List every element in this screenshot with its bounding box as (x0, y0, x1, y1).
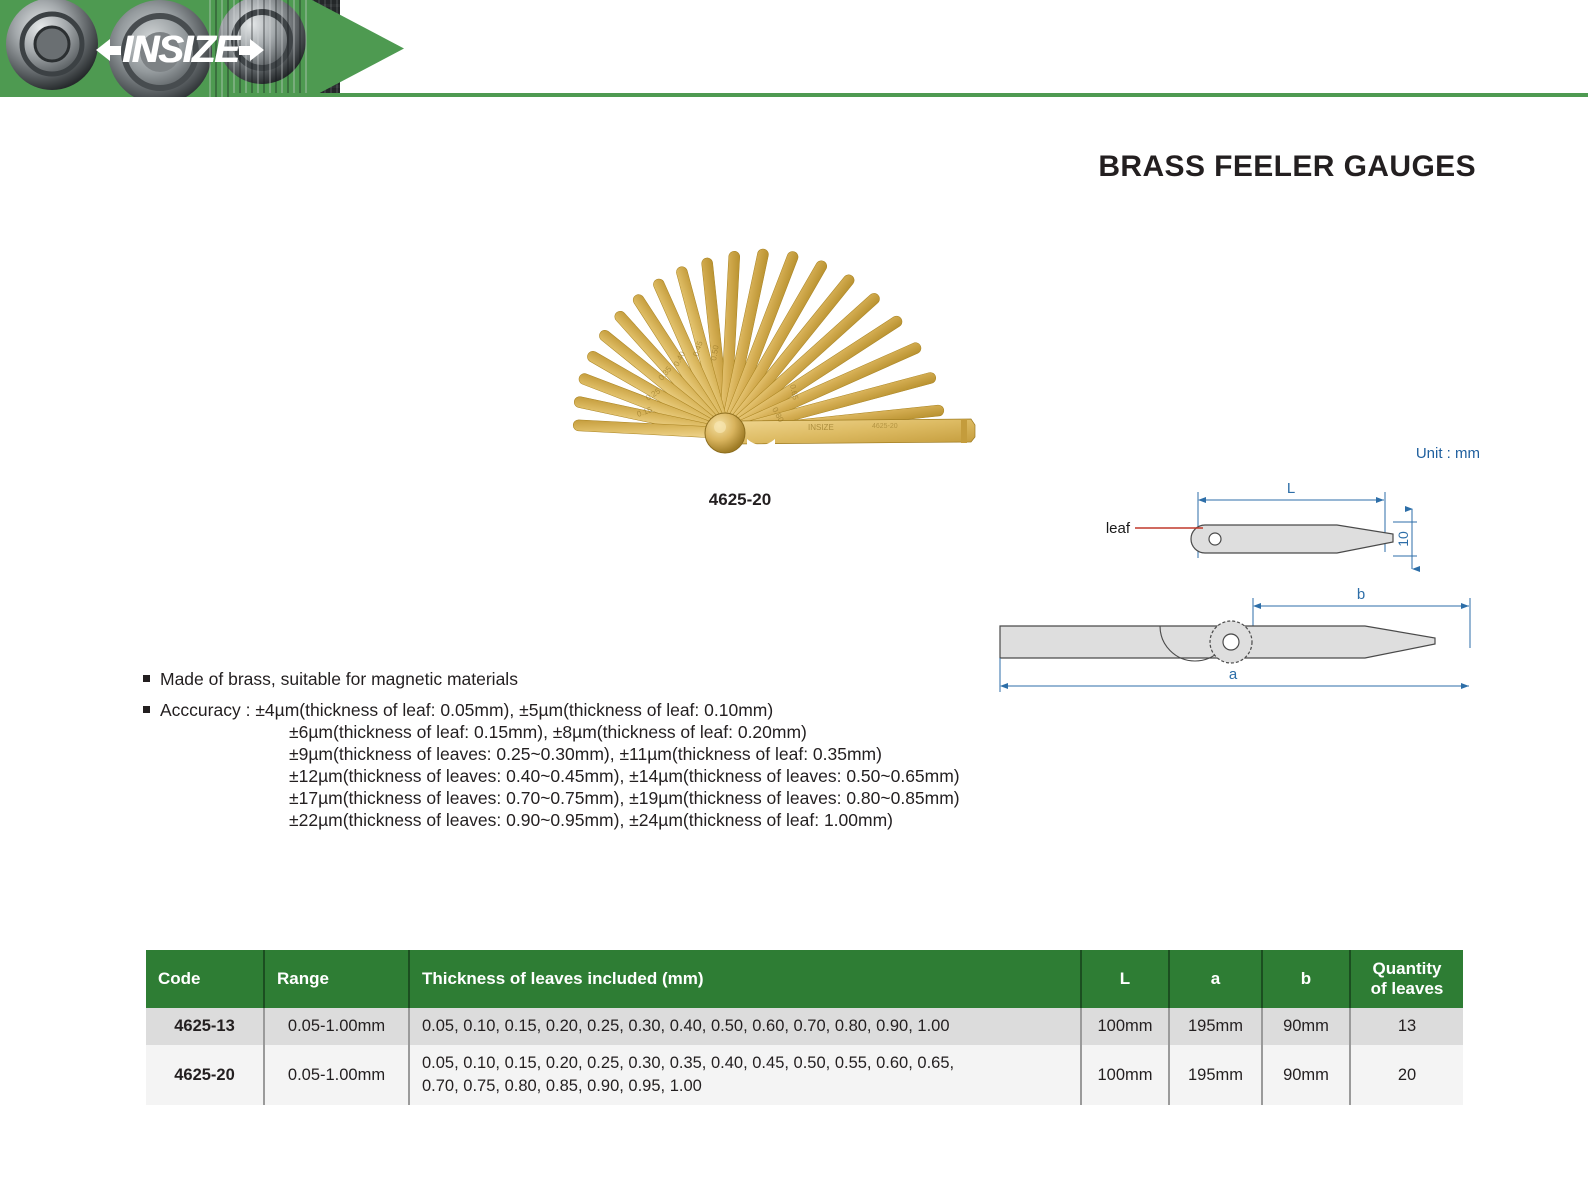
table-row[interactable]: 4625-13 0.05-1.00mm 0.05, 0.10, 0.15, 0.… (146, 1008, 1463, 1045)
table-row[interactable]: 4625-20 0.05-1.00mm 0.05, 0.10, 0.15, 0.… (146, 1045, 1463, 1105)
cell-code: 4625-13 (146, 1008, 264, 1045)
product-photo: 0.45 0.50 0.40 0.35 0.25 0.15 0.65 0.80 … (490, 185, 990, 470)
cell-l: 100mm (1081, 1045, 1169, 1105)
accuracy-line-2: ±6µm(thickness of leaf: 0.15mm), ±8µm(th… (160, 721, 1103, 743)
cell-a: 195mm (1169, 1045, 1262, 1105)
features-list: Made of brass, suitable for magnetic mat… (143, 668, 1103, 840)
cell-thickness-line1: 0.05, 0.10, 0.15, 0.20, 0.25, 0.30, 0.40… (422, 1015, 1068, 1038)
accuracy-block: Acccuracy : ±4µm(thickness of leaf: 0.05… (160, 699, 1103, 831)
header-range: Range (264, 950, 409, 1008)
feature-item-accuracy: Acccuracy : ±4µm(thickness of leaf: 0.05… (143, 699, 1103, 831)
header-l: L (1081, 950, 1169, 1008)
dim-L-label: L (1287, 480, 1295, 497)
bullet-square-icon (143, 706, 150, 713)
cell-l: 100mm (1081, 1008, 1169, 1045)
logo-left-bar-icon (108, 46, 121, 55)
header-b: b (1262, 950, 1350, 1008)
dim-10-label: 10 (1395, 531, 1411, 547)
feature-item-material: Made of brass, suitable for magnetic mat… (143, 668, 1103, 690)
accuracy-line-6: ±22µm(thickness of leaves: 0.90~0.95mm),… (160, 809, 1103, 831)
accuracy-line-1: Acccuracy : ±4µm(thickness of leaf: 0.05… (160, 700, 773, 720)
accuracy-line-4: ±12µm(thickness of leaves: 0.40~0.45mm),… (160, 765, 1103, 787)
specification-table: Code Range Thickness of leaves included … (146, 950, 1463, 1105)
cell-thickness-line1: 0.05, 0.10, 0.15, 0.20, 0.25, 0.30, 0.35… (422, 1052, 1068, 1075)
cell-thickness: 0.05, 0.10, 0.15, 0.20, 0.25, 0.30, 0.35… (409, 1045, 1081, 1105)
svg-text:INSIZE: INSIZE (808, 423, 834, 432)
cell-quantity: 13 (1350, 1008, 1463, 1045)
cell-range: 0.05-1.00mm (264, 1008, 409, 1045)
page-title: BRASS FEELER GAUGES (1098, 150, 1476, 184)
accuracy-line-5: ±17µm(thickness of leaves: 0.70~0.75mm),… (160, 787, 1103, 809)
header-a: a (1169, 950, 1262, 1008)
cell-code: 4625-20 (146, 1045, 264, 1105)
cell-thickness-line2: 0.70, 0.75, 0.80, 0.85, 0.90, 0.95, 1.00 (422, 1075, 1068, 1098)
feeler-gauge-fan-illustration: 0.45 0.50 0.40 0.35 0.25 0.15 0.65 0.80 … (490, 185, 990, 470)
header-green-rule (230, 93, 1588, 97)
svg-text:4625-20: 4625-20 (872, 423, 898, 430)
dim-b-label: b (1357, 586, 1365, 603)
cell-quantity: 20 (1350, 1045, 1463, 1105)
accuracy-label: Acccuracy : (160, 700, 255, 720)
cell-b: 90mm (1262, 1045, 1350, 1105)
dimension-diagram-svg: L 10 leaf b a (965, 430, 1485, 700)
logo-wordmark: INSIZE (121, 33, 239, 67)
bullet-square-icon (143, 675, 150, 682)
cell-a: 195mm (1169, 1008, 1262, 1045)
accuracy-value-1: ±4µm(thickness of leaf: 0.05mm), ±5µm(th… (255, 700, 773, 720)
leaf-leader-label: leaf (1106, 520, 1131, 537)
header-quantity-line1: Quantity (1355, 959, 1459, 979)
logo-right-arrow-icon (250, 39, 264, 61)
product-caption: 4625-20 (490, 490, 990, 510)
table-header-row: Code Range Thickness of leaves included … (146, 950, 1463, 1008)
page-header: INSIZE (0, 0, 1588, 97)
header-code: Code (146, 950, 264, 1008)
header-thickness: Thickness of leaves included (mm) (409, 950, 1081, 1008)
cell-range: 0.05-1.00mm (264, 1045, 409, 1105)
catalog-page: INSIZE BRASS FEELER GAUGES (0, 0, 1588, 1180)
cell-thickness: 0.05, 0.10, 0.15, 0.20, 0.25, 0.30, 0.40… (409, 1008, 1081, 1045)
header-quantity-line2: of leaves (1355, 979, 1459, 999)
dim-a-label: a (1229, 666, 1238, 683)
insize-logo[interactable]: INSIZE (96, 33, 264, 67)
feature-material-text: Made of brass, suitable for magnetic mat… (160, 668, 1103, 690)
accuracy-line-3: ±9µm(thickness of leaves: 0.25~0.30mm), … (160, 743, 1103, 765)
technical-drawing: L 10 leaf b a (965, 430, 1485, 700)
header-quantity: Quantity of leaves (1350, 950, 1463, 1008)
cell-b: 90mm (1262, 1008, 1350, 1045)
